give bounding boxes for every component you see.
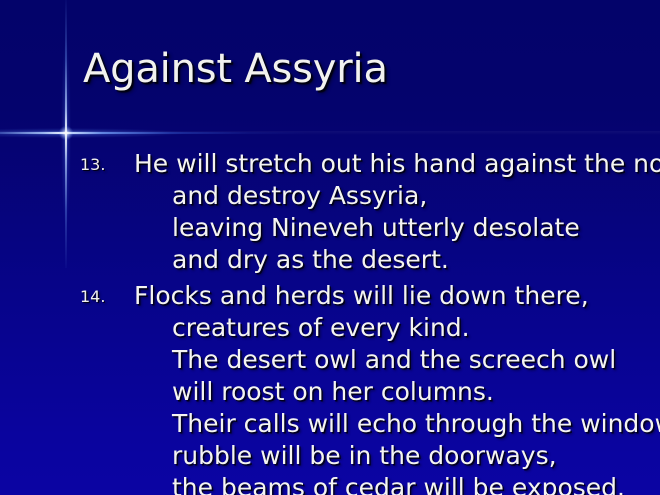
verse-line-text: and dry as the desert. xyxy=(172,244,449,276)
presentation-slide: Against Assyria 13. He will stretch out … xyxy=(0,0,660,495)
star-horizontal-ray xyxy=(0,132,310,134)
verse-line: leaving Nineveh utterly desolate xyxy=(0,212,660,244)
verse-line-text: The desert owl and the screech owl xyxy=(172,344,616,376)
verse-line-text: He will stretch out his hand against the… xyxy=(134,148,660,180)
verse-line-text: and destroy Assyria, xyxy=(172,180,427,212)
verse-line: and destroy Assyria, xyxy=(0,180,660,212)
star-horizontal-glow xyxy=(0,128,230,138)
verse-number: 13. xyxy=(80,148,126,182)
verse-line-text: leaving Nineveh utterly desolate xyxy=(172,212,580,244)
verse-line: the beams of cedar will be exposed. xyxy=(0,472,660,495)
verse-line: rubble will be in the doorways, xyxy=(0,440,660,472)
verse-line-text: creatures of every kind. xyxy=(172,312,470,344)
verse-line: 14. Flocks and herds will lie down there… xyxy=(0,280,660,312)
verse-line-text: will roost on her columns. xyxy=(172,376,494,408)
verse-block: 14. Flocks and herds will lie down there… xyxy=(0,280,660,495)
verse-line-text: rubble will be in the doorways, xyxy=(172,440,557,472)
verse-line: The desert owl and the screech owl xyxy=(0,344,660,376)
slide-body: 13. He will stretch out his hand against… xyxy=(0,148,660,495)
verse-line: creatures of every kind. xyxy=(0,312,660,344)
verse-line-text: Their calls will echo through the window… xyxy=(172,408,660,440)
verse-line: and dry as the desert. xyxy=(0,244,660,276)
verse-number: 14. xyxy=(80,280,126,314)
verse-line: will roost on her columns. xyxy=(0,376,660,408)
verse-block: 13. He will stretch out his hand against… xyxy=(0,148,660,276)
title-body-divider xyxy=(0,131,660,135)
verse-line: 13. He will stretch out his hand against… xyxy=(0,148,660,180)
slide-title: Against Assyria xyxy=(83,45,388,93)
verse-line-text: Flocks and herds will lie down there, xyxy=(134,280,589,312)
verse-line-text: the beams of cedar will be exposed. xyxy=(172,472,625,495)
verse-line: Their calls will echo through the window… xyxy=(0,408,660,440)
star-core xyxy=(59,126,73,140)
